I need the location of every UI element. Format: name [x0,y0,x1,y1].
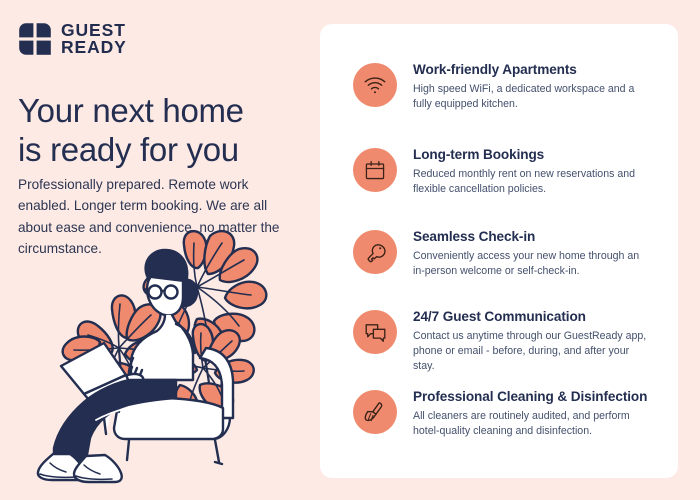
feature-item-work-friendly-apartments[interactable]: Work-friendly Apartments High speed WiFi… [353,60,653,112]
feature-text: Long-term Bookings Reduced monthly rent … [413,145,653,197]
broom-icon [353,390,397,434]
feature-description: Contact us anytime through our GuestRead… [413,329,653,374]
guestready-logo[interactable]: GUEST READY [18,22,127,56]
feature-title: 24/7 Guest Communication [413,308,653,326]
feature-text: Seamless Check-in Conveniently access yo… [413,227,653,279]
features-card: Work-friendly Apartments High speed WiFi… [320,24,678,478]
feature-item-long-term-bookings[interactable]: Long-term Bookings Reduced monthly rent … [353,145,653,197]
feature-description: Conveniently access your new home throug… [413,249,653,279]
hero-illustration [26,222,316,494]
feature-item-professional-cleaning[interactable]: Professional Cleaning & Disinfection All… [353,387,653,439]
feature-description: All cleaners are routinely audited, and … [413,409,653,439]
guestready-quadrant-logo-icon [18,22,52,56]
feature-list: Work-friendly Apartments High speed WiFi… [320,24,678,478]
feature-item-seamless-check-in[interactable]: Seamless Check-in Conveniently access yo… [353,227,653,279]
chat-bubbles-icon [353,310,397,354]
feature-title: Work-friendly Apartments [413,61,653,79]
wifi-icon [353,63,397,107]
feature-text: Professional Cleaning & Disinfection All… [413,387,653,439]
page-title: Your next home is ready for you [18,92,310,170]
logo-text-line2: READY [61,39,127,56]
feature-title: Professional Cleaning & Disinfection [413,388,653,406]
feature-text: 24/7 Guest Communication Contact us anyt… [413,307,653,374]
promo-page: GUEST READY Your next home is ready for … [0,0,700,500]
feature-title: Seamless Check-in [413,228,653,246]
feature-title: Long-term Bookings [413,146,653,164]
feature-description: Reduced monthly rent on new reservations… [413,167,653,197]
left-column: GUEST READY Your next home is ready for … [0,0,320,500]
feature-description: High speed WiFi, a dedicated workspace a… [413,82,653,112]
calendar-icon [353,148,397,192]
key-icon [353,230,397,274]
feature-item-guest-communication[interactable]: 24/7 Guest Communication Contact us anyt… [353,307,653,374]
headline-line-1: Your next home [18,92,244,129]
feature-text: Work-friendly Apartments High speed WiFi… [413,60,653,112]
headline-line-2: is ready for you [18,131,310,170]
